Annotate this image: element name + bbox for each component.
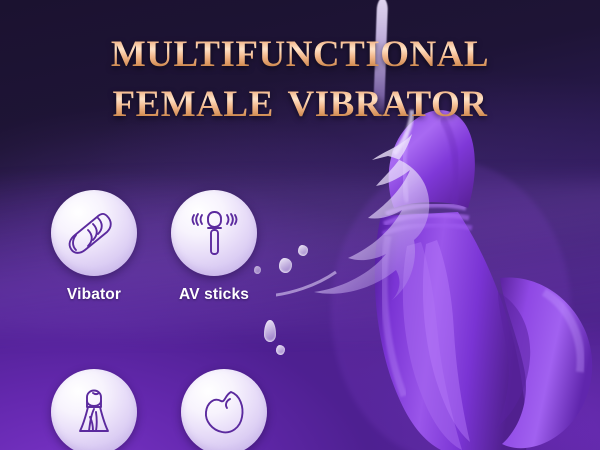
badge-circle [171,190,257,276]
title-line-2: Female Vibrator [0,72,600,126]
banner-title: Multifunctional Female Vibrator [0,22,600,126]
feature-label: Vibator [67,286,121,304]
rabbit-vibrator-product-image [276,96,600,450]
title-line-1: Multifunctional [0,22,600,76]
feature-badge-grid: Vibator AV sticks [34,190,294,450]
bean-massager-icon [197,385,251,439]
feature-badge-dildo[interactable]: Dildo [34,369,154,450]
droplet [298,245,308,256]
feature-badge-av-sticks[interactable]: AV sticks [154,190,274,304]
vibrator-sleeve-icon [67,206,121,260]
liquid-stream [373,0,388,120]
feature-badge-row-1: Vibator AV sticks [34,190,294,304]
product-promo-banner: Multifunctional Female Vibrator Vibator [0,0,600,450]
feature-badge-row-2: Dildo Vaginal Massager [34,369,294,450]
feature-badge-vibrator[interactable]: Vibator [34,190,154,304]
badge-circle [181,369,267,450]
feature-badge-vaginal-massager[interactable]: Vaginal Massager [154,369,294,450]
dildo-icon [67,385,121,439]
badge-circle [51,190,137,276]
badge-circle [51,369,137,450]
wand-massager-icon [187,206,241,260]
feature-label: AV sticks [179,286,249,304]
